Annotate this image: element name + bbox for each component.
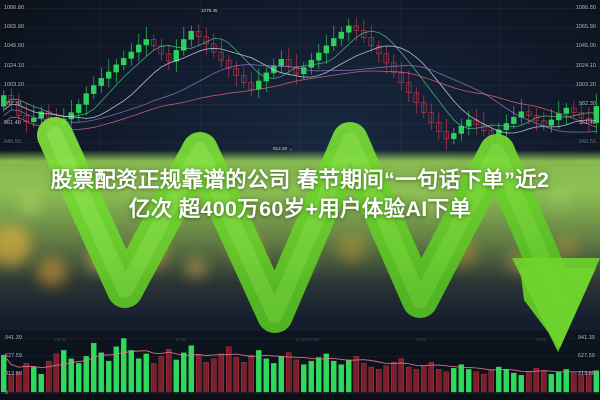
news-banner-image: 1086.801065.901045.001024.101003.20982.3… — [0, 0, 600, 400]
arrow-head-outer — [512, 258, 600, 352]
zigzag-path-highlight — [55, 135, 560, 315]
page-title: 股票配资正规靠谱的公司 春节期间“一句话下单”近2 亿次 超400万60岁+用户… — [0, 166, 600, 224]
headline-line-2: 亿次 超400万60岁+用户体验AI下单 — [0, 195, 600, 224]
headline-line-1: 股票配资正规靠谱的公司 春节期间“一句话下单”近2 — [0, 166, 600, 195]
